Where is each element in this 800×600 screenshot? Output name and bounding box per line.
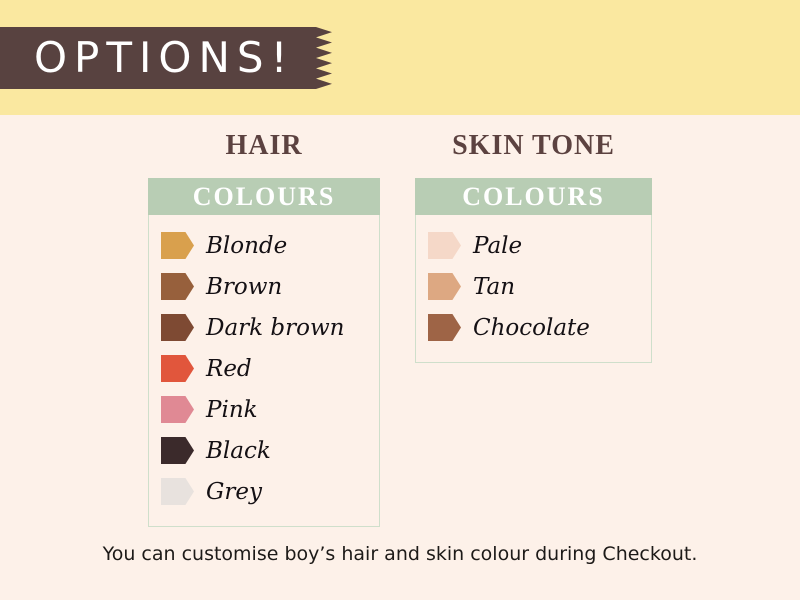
footer-note: You can customise boy’s hair and skin co… [103,543,698,565]
swatch-label: Chocolate [473,313,590,343]
swatch-color-icon [161,396,194,423]
swatch-color-icon [161,355,194,382]
swatch-color-icon [161,478,194,505]
swatch-list-hair: Blonde Brown Dark brown Red Pink [149,215,379,526]
swatch-row[interactable]: Blonde [149,225,379,266]
column-title-hair: HAIR [148,130,380,168]
swatch-row[interactable]: Black [149,430,379,471]
swatch-list-skin-tone: Pale Tan Chocolate [416,215,651,362]
swatch-label: Tan [473,272,515,302]
swatch-color-icon [428,273,461,300]
swatch-row[interactable]: Pink [149,389,379,430]
swatch-color-icon [161,437,194,464]
card-header-label-skin-tone: COLOURS [462,182,605,212]
swatch-row[interactable]: Red [149,348,379,389]
swatch-row[interactable]: Pale [416,225,651,266]
swatch-label: Dark brown [206,313,344,343]
swatch-color-icon [161,232,194,259]
card-skin-tone: COLOURS Pale Tan Chocolate [415,178,652,363]
swatch-label: Pink [206,395,258,425]
swatch-color-icon [161,314,194,341]
card-header-hair: COLOURS [148,178,380,215]
column-hair: HAIR COLOURS Blonde Brown Dark brown [148,130,380,527]
swatch-color-icon [428,314,461,341]
swatch-label: Black [206,436,271,466]
options-columns: HAIR COLOURS Blonde Brown Dark brown [0,130,800,520]
swatch-row[interactable]: Chocolate [416,307,651,348]
swatch-color-icon [428,232,461,259]
footer-note-area: You can customise boy’s hair and skin co… [0,537,800,571]
card-header-skin-tone: COLOURS [415,178,652,215]
swatch-label: Grey [206,477,262,507]
column-skin-tone: SKIN TONE COLOURS Pale Tan Chocolate [415,130,652,363]
swatch-row[interactable]: Dark brown [149,307,379,348]
swatch-row[interactable]: Tan [416,266,651,307]
swatch-label: Red [206,354,252,384]
swatch-label: Brown [206,272,282,302]
banner-title: OPTIONS! [34,27,304,89]
swatch-row[interactable]: Grey [149,471,379,512]
swatch-color-icon [161,273,194,300]
swatch-label: Blonde [206,231,287,261]
card-hair: COLOURS Blonde Brown Dark brown Red [148,178,380,527]
swatch-row[interactable]: Brown [149,266,379,307]
swatch-label: Pale [473,231,522,261]
column-title-skin-tone: SKIN TONE [415,130,652,168]
options-ribbon-banner: OPTIONS! [0,27,332,89]
card-header-label-hair: COLOURS [193,182,336,212]
